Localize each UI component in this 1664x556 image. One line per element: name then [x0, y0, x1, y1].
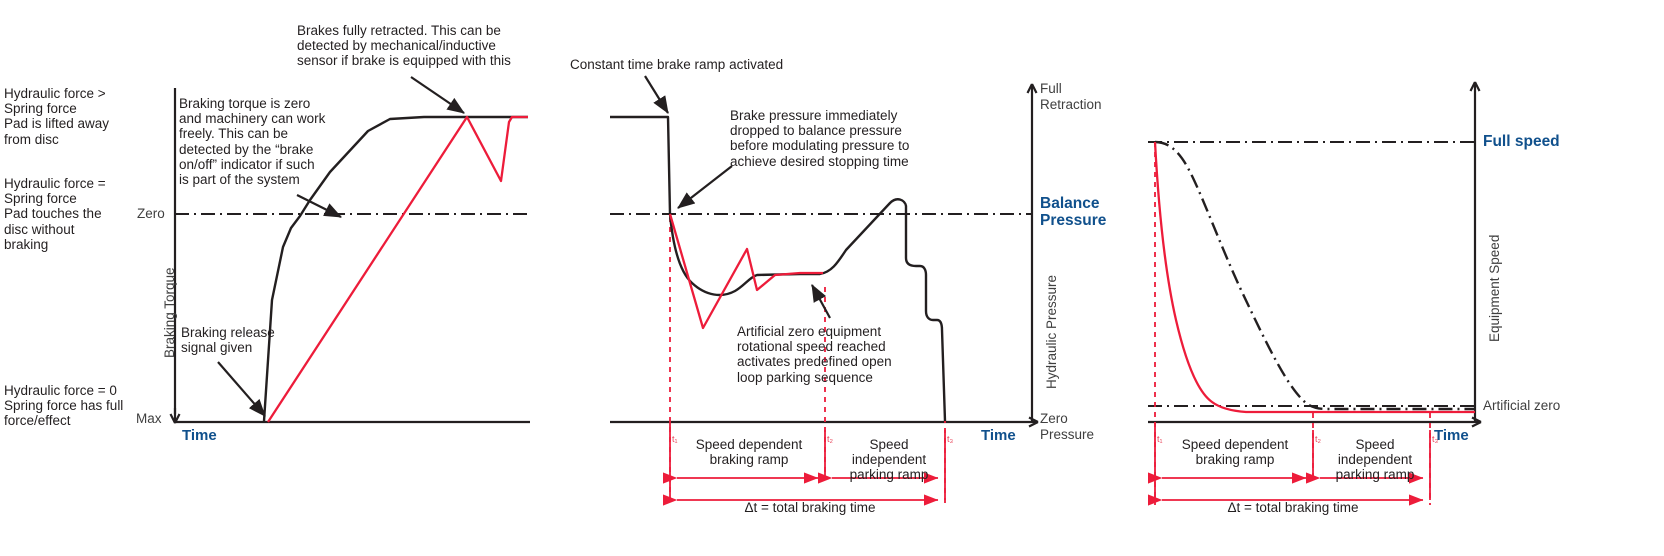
- annotation-braking-torque-zero: Braking torque is zero and machinery can…: [179, 96, 325, 187]
- arrow-constant-time-ramp: [645, 76, 668, 113]
- arrow-release-signal: [218, 362, 265, 416]
- yaxis-title-braking-torque: Braking Torque: [162, 267, 177, 358]
- ytick-balance-pressure-label: Balance Pressure: [1040, 195, 1106, 229]
- xaxis-title-time-right: Time: [1434, 427, 1469, 444]
- yaxis-title-hydraulic-pressure: Hydraulic Pressure: [1044, 275, 1059, 389]
- ytick-max-label: Max: [136, 411, 162, 426]
- yaxis-title-equipment-speed: Equipment Speed: [1487, 235, 1502, 342]
- xaxis-title-time-mid: Time: [981, 427, 1016, 444]
- span-label-speed-independent-parking-ramp: Speed independent parking ramp: [833, 437, 945, 483]
- span-label-speed-dependent-braking-ramp: Speed dependent braking ramp: [1169, 437, 1301, 467]
- span-label-speed-dependent-braking-ramp: Speed dependent braking ramp: [684, 437, 814, 467]
- tick-label-t3: t₃: [947, 434, 953, 444]
- annotation-braking-release-signal: Braking release signal given: [181, 325, 275, 355]
- arrow-brakes-retracted: [411, 77, 464, 113]
- annotation-constant-time-brake-ramp: Constant time brake ramp activated: [570, 57, 783, 72]
- series-black-equipment-speed: [1155, 142, 1475, 409]
- xaxis-title-time-left: Time: [182, 427, 217, 444]
- braking-torque-plot: [0, 0, 560, 556]
- chart-panel-hydraulic-pressure: Constant time brake ramp activated Brake…: [560, 0, 1120, 556]
- annotation-artificial-zero-parking: Artificial zero equipment rotational spe…: [737, 324, 892, 385]
- series-red-hydraulic-pressure: [670, 214, 823, 328]
- arrow-artificial-zero-reached: [812, 285, 830, 318]
- annotation-brake-pressure-dropped: Brake pressure immediately dropped to ba…: [730, 108, 909, 169]
- tick-label-t3: t₃: [1432, 434, 1438, 444]
- tick-label-t1: t₁: [672, 434, 678, 444]
- chart-panel-braking-torque: Hydraulic force > Spring force Pad is li…: [0, 0, 560, 556]
- ytick-zero-label: Zero: [137, 206, 165, 221]
- axis-lines: [1148, 82, 1481, 427]
- tick-label-t1: t₁: [1157, 434, 1163, 444]
- ytick-full-speed-label: Full speed: [1483, 133, 1560, 150]
- arrow-pressure-dropped: [678, 166, 732, 208]
- chart-panel-equipment-speed: Full speed Artificial zero Equipment Spe…: [1120, 0, 1664, 556]
- series-red-equipment-speed: [1155, 142, 1475, 412]
- ytick-full-retraction-label: Full Retraction: [1040, 81, 1102, 112]
- span-label-total-braking-time: Δt = total braking time: [710, 500, 910, 515]
- ytick-artificial-zero-label: Artificial zero: [1483, 398, 1560, 413]
- span-label-total-braking-time: Δt = total braking time: [1193, 500, 1393, 515]
- annotation-brakes-fully-retracted: Brakes fully retracted. This can be dete…: [297, 23, 511, 69]
- ytick-zero-pressure-label: Zero Pressure: [1040, 411, 1094, 442]
- span-label-speed-independent-parking-ramp: Speed independent parking ramp: [1320, 437, 1430, 483]
